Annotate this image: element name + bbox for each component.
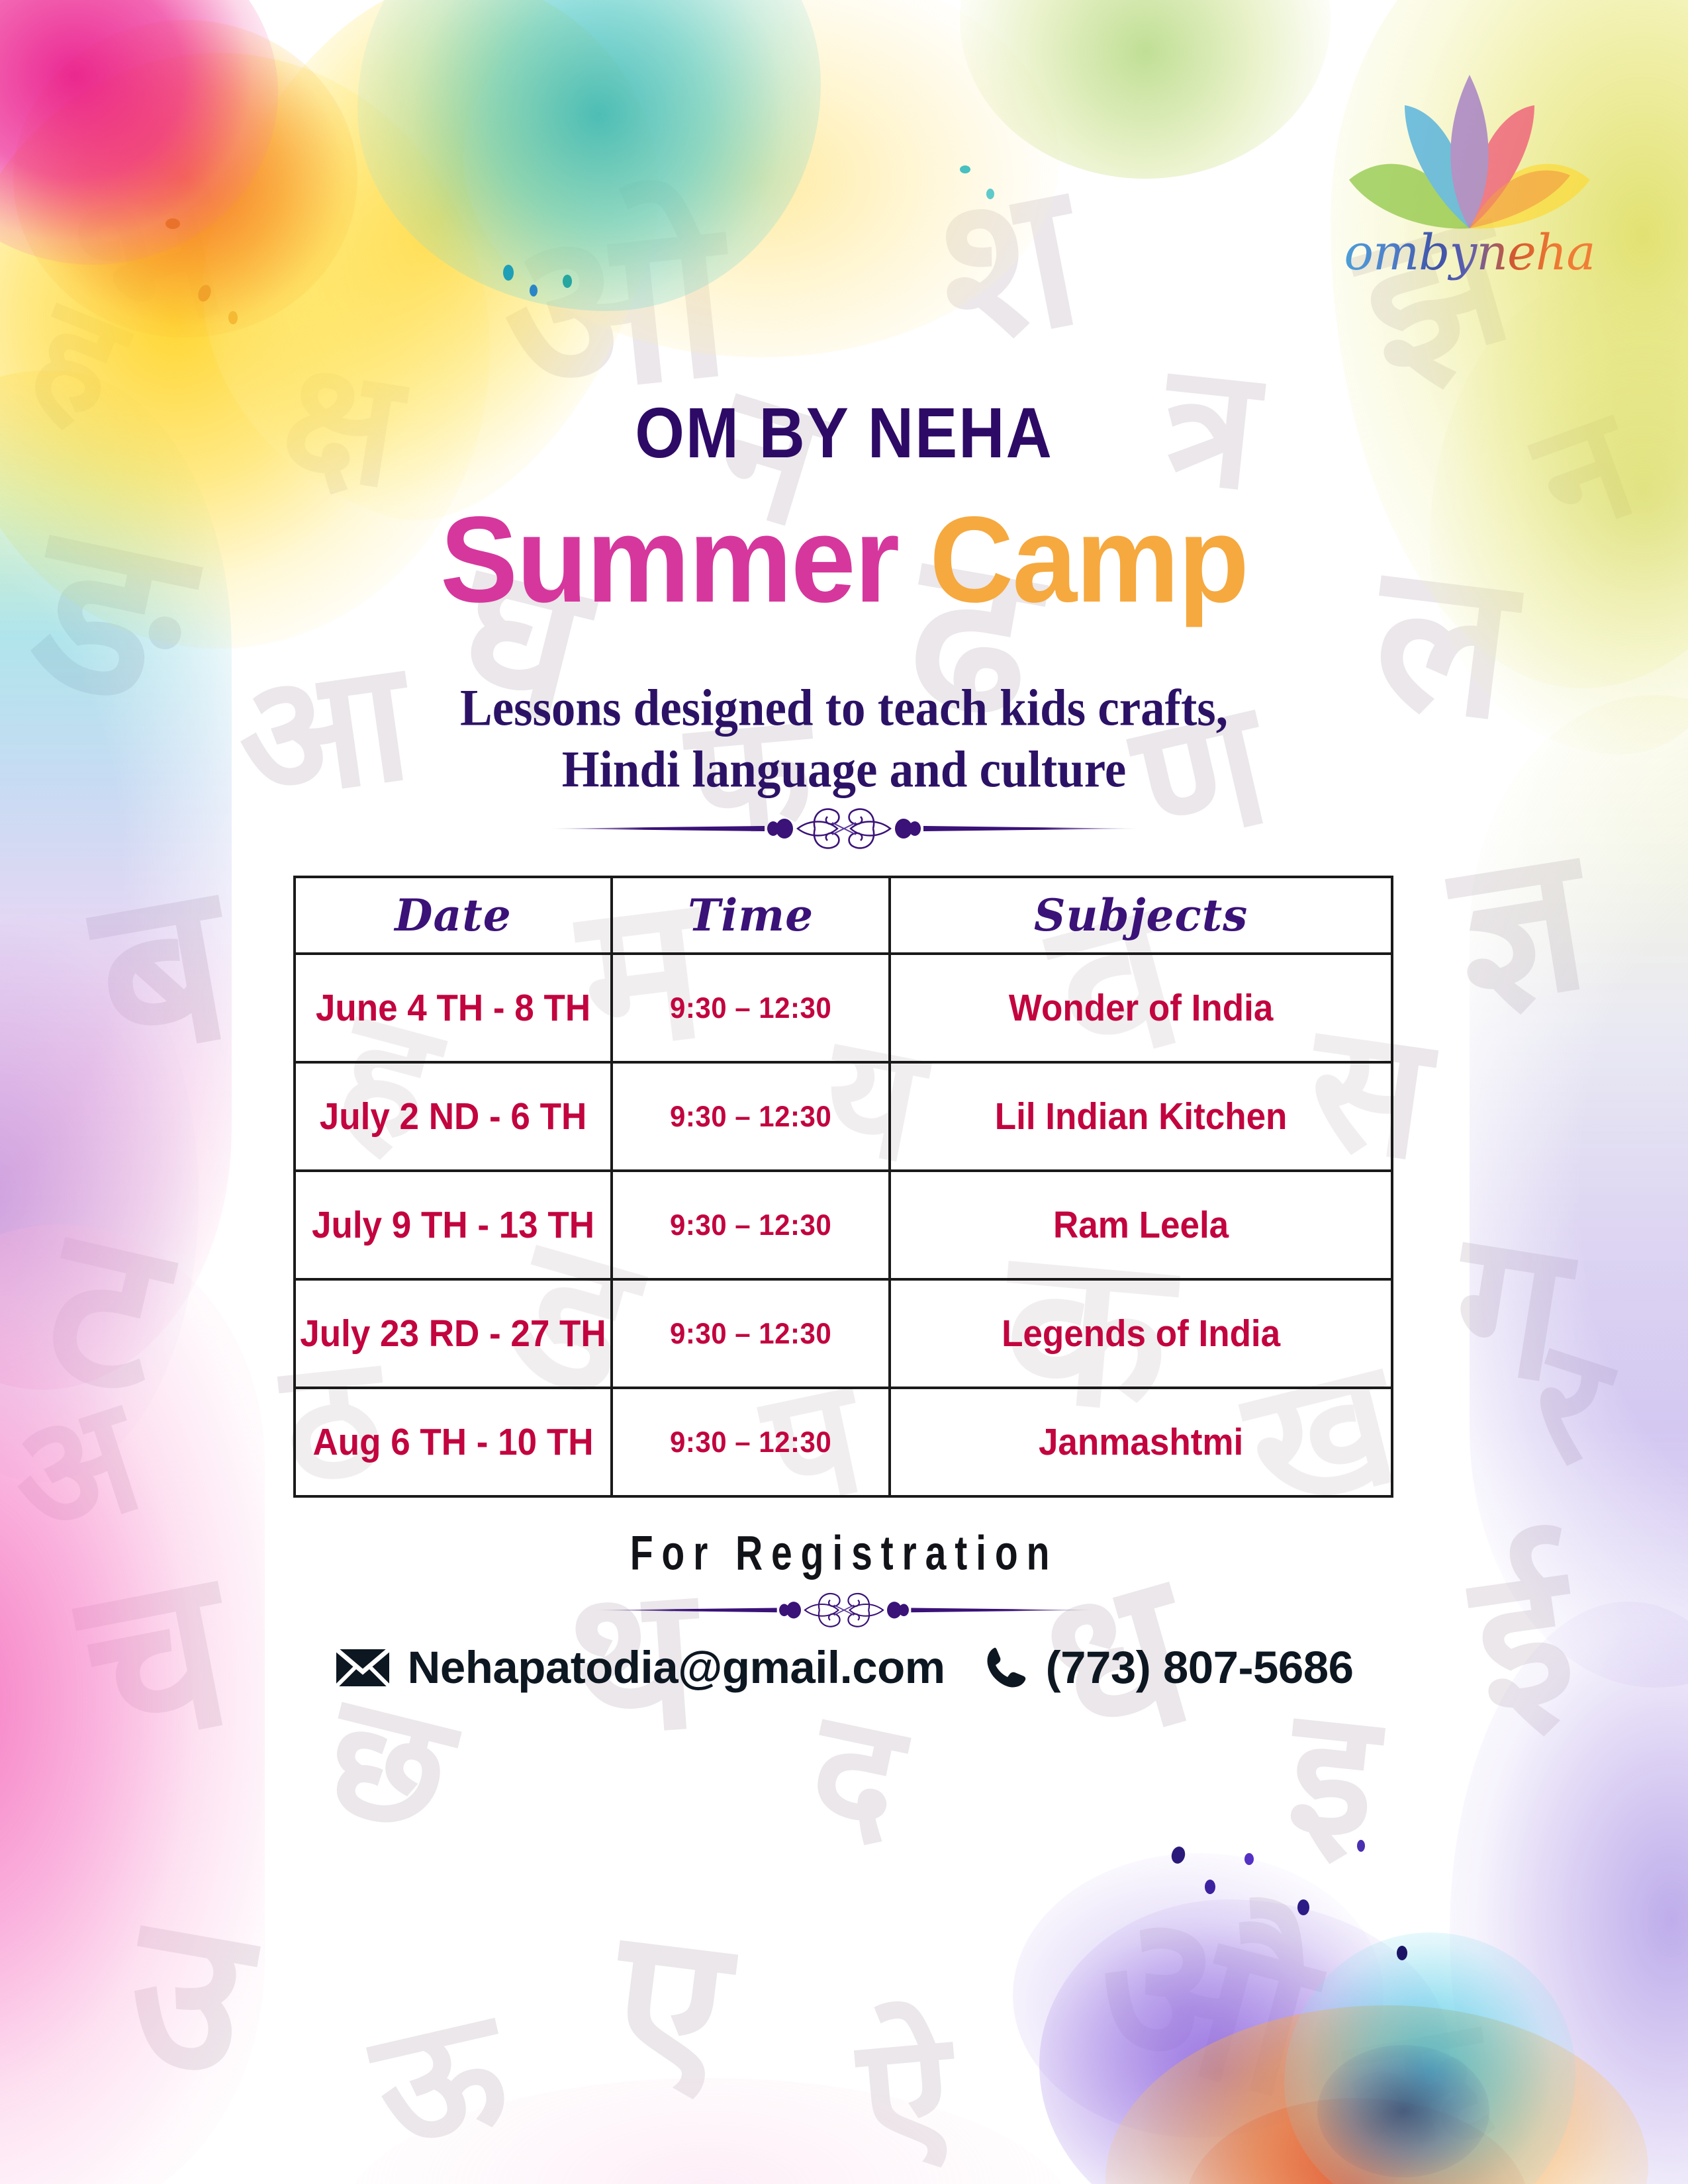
table-row: Aug 6 TH - 10 TH 9:30 – 12:30 Janmashtmi (295, 1388, 1392, 1496)
table-row: June 4 TH - 8 TH 9:30 – 12:30 Wonder of … (295, 954, 1392, 1062)
subtitle-line-1: Lessons designed to teach kids crafts, (0, 677, 1688, 739)
ornamental-flourish-divider-icon (546, 804, 1142, 852)
table-row: July 2 ND - 6 TH 9:30 – 12:30 Lil Indian… (295, 1062, 1392, 1171)
cell-time: 9:30 – 12:30 (612, 1279, 890, 1388)
contact-row: Nehapatodia@gmail.com (773) 807-5686 (0, 1641, 1688, 1694)
cell-time: 9:30 – 12:30 (612, 954, 890, 1062)
cell-date: July 9 TH - 13 TH (295, 1171, 612, 1279)
cell-date: July 23 RD - 27 TH (295, 1279, 612, 1388)
cell-subject: Wonder of India (890, 954, 1392, 1062)
subtitle: Lessons designed to teach kids crafts, H… (0, 677, 1688, 800)
phone-icon (981, 1644, 1029, 1692)
table-row: July 9 TH - 13 TH 9:30 – 12:30 Ram Leela (295, 1171, 1392, 1279)
cell-time: 9:30 – 12:30 (612, 1171, 890, 1279)
table-header-row: Date Time Subjects (295, 877, 1392, 954)
cell-subject: Legends of India (890, 1279, 1392, 1388)
column-header-date: Date (295, 877, 612, 954)
page-title-main: Summer Camp (0, 490, 1688, 630)
ornament-divider-bottom (0, 1588, 1688, 1631)
schedule-table: Date Time Subjects June 4 TH - 8 TH 9:30… (293, 876, 1393, 1498)
cell-date: July 2 ND - 6 TH (295, 1062, 612, 1171)
lotus-flower-icon (1331, 63, 1609, 242)
ornament-divider-top (0, 804, 1688, 852)
cell-subject: Ram Leela (890, 1171, 1392, 1279)
cell-subject: Janmashtmi (890, 1388, 1392, 1496)
column-header-subjects: Subjects (890, 877, 1392, 954)
title-word-summer: Summer (440, 492, 898, 628)
title-word-camp: Camp (929, 492, 1248, 628)
logo-wordmark: ombyneha (1331, 224, 1609, 281)
cell-date: June 4 TH - 8 TH (295, 954, 612, 1062)
contact-phone[interactable]: (773) 807-5686 (1046, 1641, 1354, 1694)
contact-email[interactable]: Nehapatodia@gmail.com (408, 1641, 945, 1694)
cell-date: Aug 6 TH - 10 TH (295, 1388, 612, 1496)
page-title-brand: OM BY NEHA (0, 392, 1688, 474)
envelope-icon (335, 1647, 391, 1689)
brand-logo: ombyneha (1331, 63, 1609, 281)
summer-camp-flyer: भ क्ष ओ न श त्र झ ङ आ घ फ ढ ण ल ब ह म य … (0, 0, 1688, 2184)
registration-heading: For Registration (68, 1526, 1620, 1582)
cell-time: 9:30 – 12:30 (612, 1062, 890, 1171)
table-row: July 23 RD - 27 TH 9:30 – 12:30 Legends … (295, 1279, 1392, 1388)
ornamental-flourish-divider-icon (592, 1588, 1096, 1631)
subtitle-line-2: Hindi language and culture (0, 739, 1688, 800)
cell-subject: Lil Indian Kitchen (890, 1062, 1392, 1171)
column-header-time: Time (612, 877, 890, 954)
cell-time: 9:30 – 12:30 (612, 1388, 890, 1496)
